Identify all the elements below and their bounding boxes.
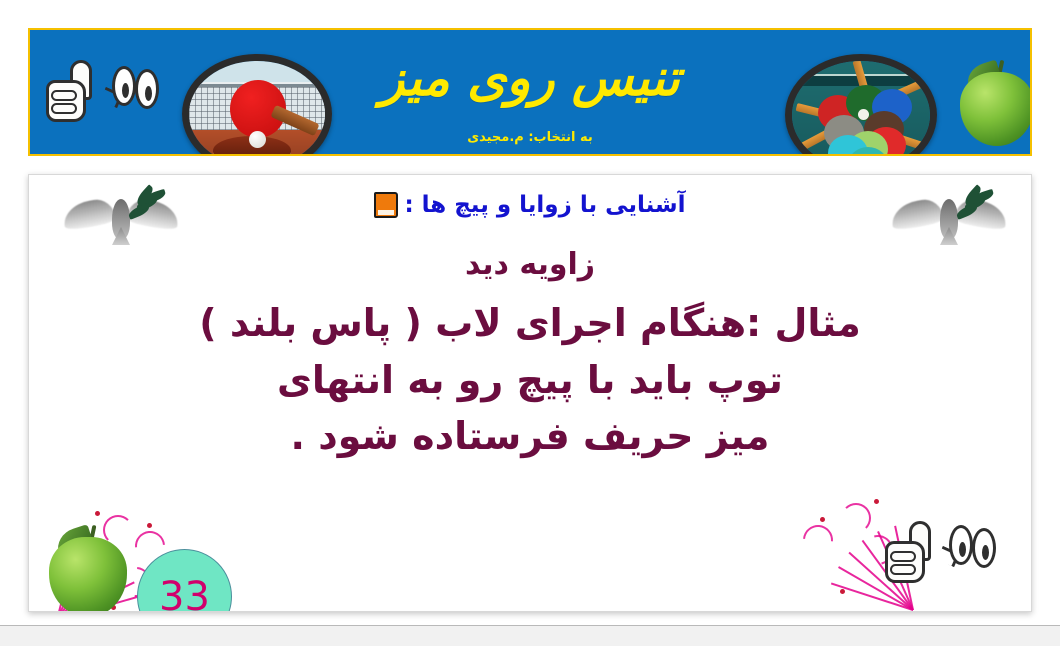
body-line-3: میز حریف فرستاده شود .	[29, 413, 1031, 459]
section-heading-label: آشنایی با زوایا و پیچ ها :	[404, 189, 685, 221]
green-apple-icon	[960, 60, 1032, 146]
thumbs-up-with-fireworks-icon	[885, 521, 931, 583]
body-line-2: توپ باید با پیچ رو به انتهای	[29, 357, 1031, 403]
header-banner: تنیس روی میز به انتخاب: م.مجیدی	[28, 28, 1032, 156]
body-line-1: مثال :هنگام اجرای لاب ( پاس بلند )	[29, 300, 1031, 346]
section-heading: آشنایی با زوایا و پیچ ها :	[29, 189, 1031, 221]
colored-rackets-photo	[785, 54, 937, 156]
orange-book-icon	[374, 192, 398, 218]
bottom-status-strip	[0, 625, 1060, 646]
slide: تنیس روی میز به انتخاب: م.مجیدی	[0, 0, 1060, 646]
subject-title: زاویه دید	[29, 247, 1031, 282]
content-card: آشنایی با زوایا و پیچ ها : زاویه دید مثا…	[28, 174, 1032, 612]
content-text-block: آشنایی با زوایا و پیچ ها : زاویه دید مثا…	[29, 189, 1031, 459]
page-number-label: 33	[159, 574, 210, 613]
green-apple-with-fireworks-icon	[49, 525, 127, 612]
cartoon-eyes-bottom-icon	[947, 523, 1001, 571]
